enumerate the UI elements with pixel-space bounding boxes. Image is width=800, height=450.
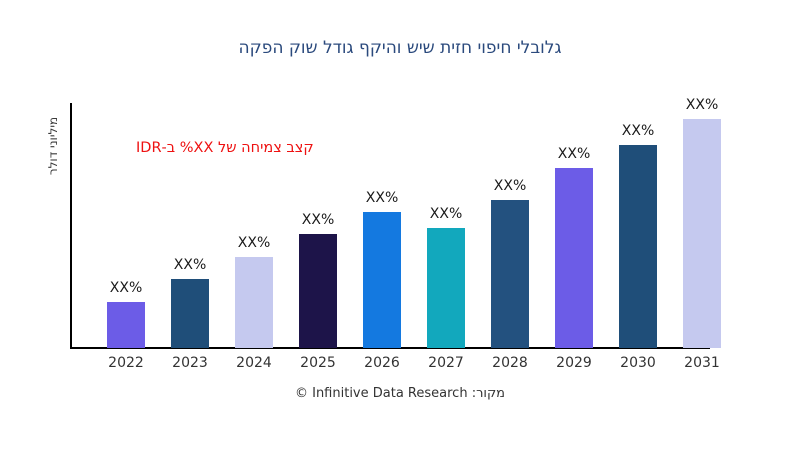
bar-value-label-2027: XX% [430,206,462,222]
bar-2029[interactable] [555,168,593,348]
bar-value-label-2024: XX% [238,235,270,251]
bar-group-2025[interactable]: XX% [299,103,337,348]
bar-2030[interactable] [619,145,657,348]
chart-title: גלובלי חיפוי חזית שיש והיקף גודל שוק הפק… [0,38,800,58]
y-axis-title: מיליוני דולר [46,86,66,206]
bar-value-label-2026: XX% [366,190,398,206]
bar-2031[interactable] [683,119,721,348]
bar-value-label-2028: XX% [494,178,526,194]
bar-chart-figure: גלובלי חיפוי חזית שיש והיקף גודל שוק הפק… [0,0,800,450]
bar-2022[interactable] [107,302,145,348]
x-tick-2031: 2031 [662,355,742,371]
bar-group-2028[interactable]: XX% [491,103,529,348]
bar-value-label-2025: XX% [302,212,334,228]
bar-value-label-2022: XX% [110,280,142,296]
bar-group-2023[interactable]: XX% [171,103,209,348]
bar-value-label-2030: XX% [622,123,654,139]
bar-group-2027[interactable]: XX% [427,103,465,348]
bar-value-label-2029: XX% [558,146,590,162]
bar-2025[interactable] [299,234,337,348]
bar-value-label-2031: XX% [686,97,718,113]
bar-2028[interactable] [491,200,529,348]
bar-2024[interactable] [235,257,273,348]
bar-group-2029[interactable]: XX% [555,103,593,348]
bar-group-2022[interactable]: XX% [107,103,145,348]
bar-group-2024[interactable]: XX% [235,103,273,348]
bar-group-2026[interactable]: XX% [363,103,401,348]
bar-group-2030[interactable]: XX% [619,103,657,348]
bar-2027[interactable] [427,228,465,348]
plot-area: XX%XX%XX%XX%XX%XX%XX%XX%XX%XX% [70,103,780,348]
source-note: מקור: Infinitive Data Research © [0,386,800,401]
bar-group-2031[interactable]: XX% [683,103,721,348]
bar-2023[interactable] [171,279,209,348]
bar-value-label-2023: XX% [174,257,206,273]
bar-2026[interactable] [363,212,401,348]
